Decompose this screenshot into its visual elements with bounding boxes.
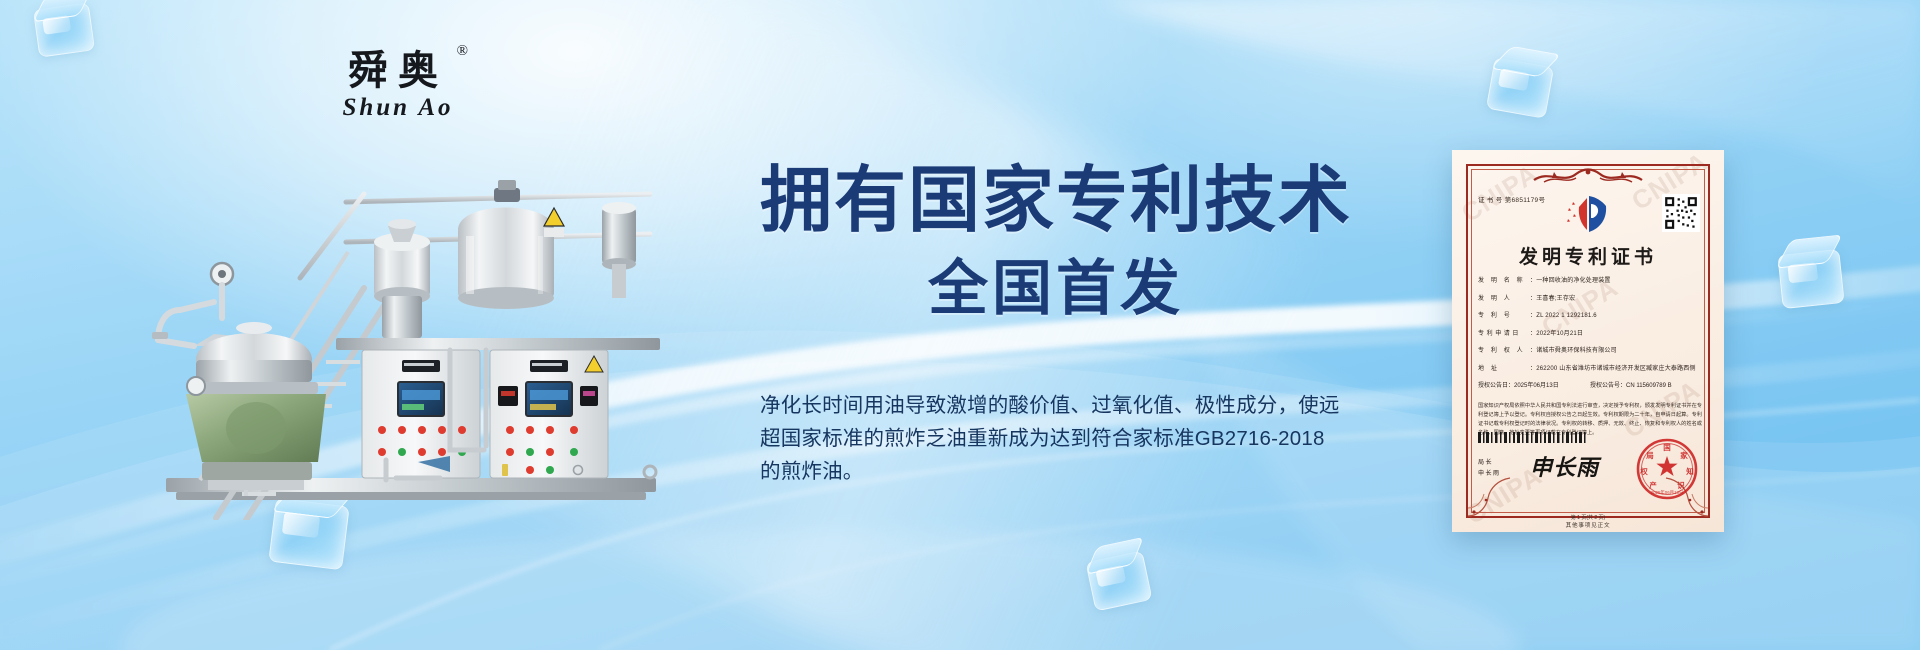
certificate-fields: 发 明 名 称 ：一种回收油的净化处理装置 发 明 人 ：王喜春;王存宏 专 利… (1478, 278, 1702, 401)
svg-text:权: 权 (1639, 466, 1648, 476)
certificate-signature: 申长雨 (1530, 450, 1599, 482)
hero-copy-block: 拥有国家专利技术 全国首发 净化长时间用油导致激增的酸价值、过氧化值、极性成分，… (760, 165, 1380, 489)
certificate-field-value: ：262200 山东省潍坊市诸城市经济开发区臧家庄大泰路西侧 (1530, 366, 1702, 372)
certificate-field-key: 专 利 权 人 (1478, 348, 1530, 354)
certificate-director-labels: 局长 申长雨 (1478, 458, 1501, 481)
certificate-field-value: ：2022年10月21日 (1530, 331, 1702, 337)
certificate-director-title: 局长 (1478, 458, 1501, 469)
certificate-barcode (1478, 432, 1590, 443)
certificate-field-key: 发 明 名 称 (1478, 278, 1530, 284)
svg-text:知: 知 (1686, 466, 1694, 476)
brand-name-cn-text: 舜奥 (348, 48, 448, 93)
cnipa-emblem-icon (1561, 194, 1615, 234)
svg-text:产: 产 (1649, 480, 1657, 490)
svg-text:家: 家 (1680, 450, 1688, 460)
certificate-field-row: 专 利 权 人 ：诸城市舜奥环保科技有限公司 (1478, 348, 1702, 354)
certificate-field-row: 专 利 号 ：ZL 2022 1 1292181.6 (1478, 313, 1702, 319)
certificate-corner-ornament (1466, 476, 1520, 518)
certificate-top-ornament (1524, 166, 1652, 186)
certificate-field-key: 专利申请日 (1478, 331, 1530, 337)
svg-text:国: 国 (1663, 442, 1671, 452)
page-subtitle: 全国首发 (760, 259, 1380, 319)
hero-banner: 舜奥 ® Shun Ao (0, 0, 1920, 650)
official-seal-icon: 国 家 知 识 产 权 局 2025年06月13日 (1636, 438, 1698, 500)
certificate-grant-row: 授权公告日：2025年06月13日 授权公告号：CN 115609789 B (1478, 383, 1702, 389)
certificate-field-key: 专 利 号 (1478, 313, 1530, 319)
registered-trademark-icon: ® (457, 44, 468, 60)
certificate-page-number: 第 1 页(共 2 页) (1452, 514, 1724, 521)
certificate-field-value: ：一种回收油的净化处理装置 (1530, 278, 1702, 284)
certificate-field-row: 专利申请日 ：2022年10月21日 (1478, 331, 1702, 337)
seal-date: 2025年06月13日 (1651, 489, 1684, 496)
certificate-field-key: 地 址 (1478, 366, 1530, 372)
ice-cube-decoration (1486, 57, 1554, 119)
ice-cube-decoration (1085, 551, 1152, 612)
certificate-grant-date: 授权公告日：2025年06月13日 (1478, 383, 1590, 389)
ice-cube-decoration (33, 2, 95, 57)
ice-cube-decoration (1777, 249, 1844, 309)
certificate-field-value: ：ZL 2022 1 1292181.6 (1530, 313, 1702, 319)
svg-text:识: 识 (1677, 480, 1685, 490)
certificate-field-row: 发 明 名 称 ：一种回收油的净化处理装置 (1478, 278, 1702, 284)
certificate-title: 发明专利证书 (1452, 242, 1724, 269)
certificate-serial-number: 证 书 号 第6851179号 (1478, 194, 1545, 204)
brand-logo[interactable]: 舜奥 ® Shun Ao (318, 50, 478, 122)
brand-name-en: Shun Ao (318, 94, 478, 122)
page-title: 拥有国家专利技术 (760, 165, 1380, 237)
certificate-field-row: 发 明 人 ：王喜春;王存宏 (1478, 296, 1702, 302)
svg-text:局: 局 (1645, 451, 1654, 460)
certificate-field-value: ：诸城市舜奥环保科技有限公司 (1530, 348, 1702, 354)
certificate-field-value: ：王喜春;王存宏 (1530, 296, 1702, 302)
certificate-grant-number: 授权公告号：CN 115609789 B (1590, 383, 1702, 389)
patent-certificate-image[interactable]: CNIPA CNIPA CNIPA CNIPA CNIPA 证 书 号 第685… (1452, 150, 1724, 532)
certificate-field-row: 地 址 ：262200 山东省潍坊市诸城市经济开发区臧家庄大泰路西侧 (1478, 366, 1702, 372)
oil-purification-machine-image (150, 150, 710, 520)
hero-description: 净化长时间用油导致激增的酸价值、过氧化值、极性成分，使远超国家标准的煎炸乏油重新… (760, 389, 1340, 489)
brand-name-cn: 舜奥 ® (348, 50, 448, 92)
certificate-director-name: 申长雨 (1478, 469, 1501, 480)
certificate-qr-code (1662, 194, 1700, 232)
certificate-field-key: 发 明 人 (1478, 296, 1530, 302)
certificate-footer-note: 其他事项见正文 (1452, 521, 1724, 529)
